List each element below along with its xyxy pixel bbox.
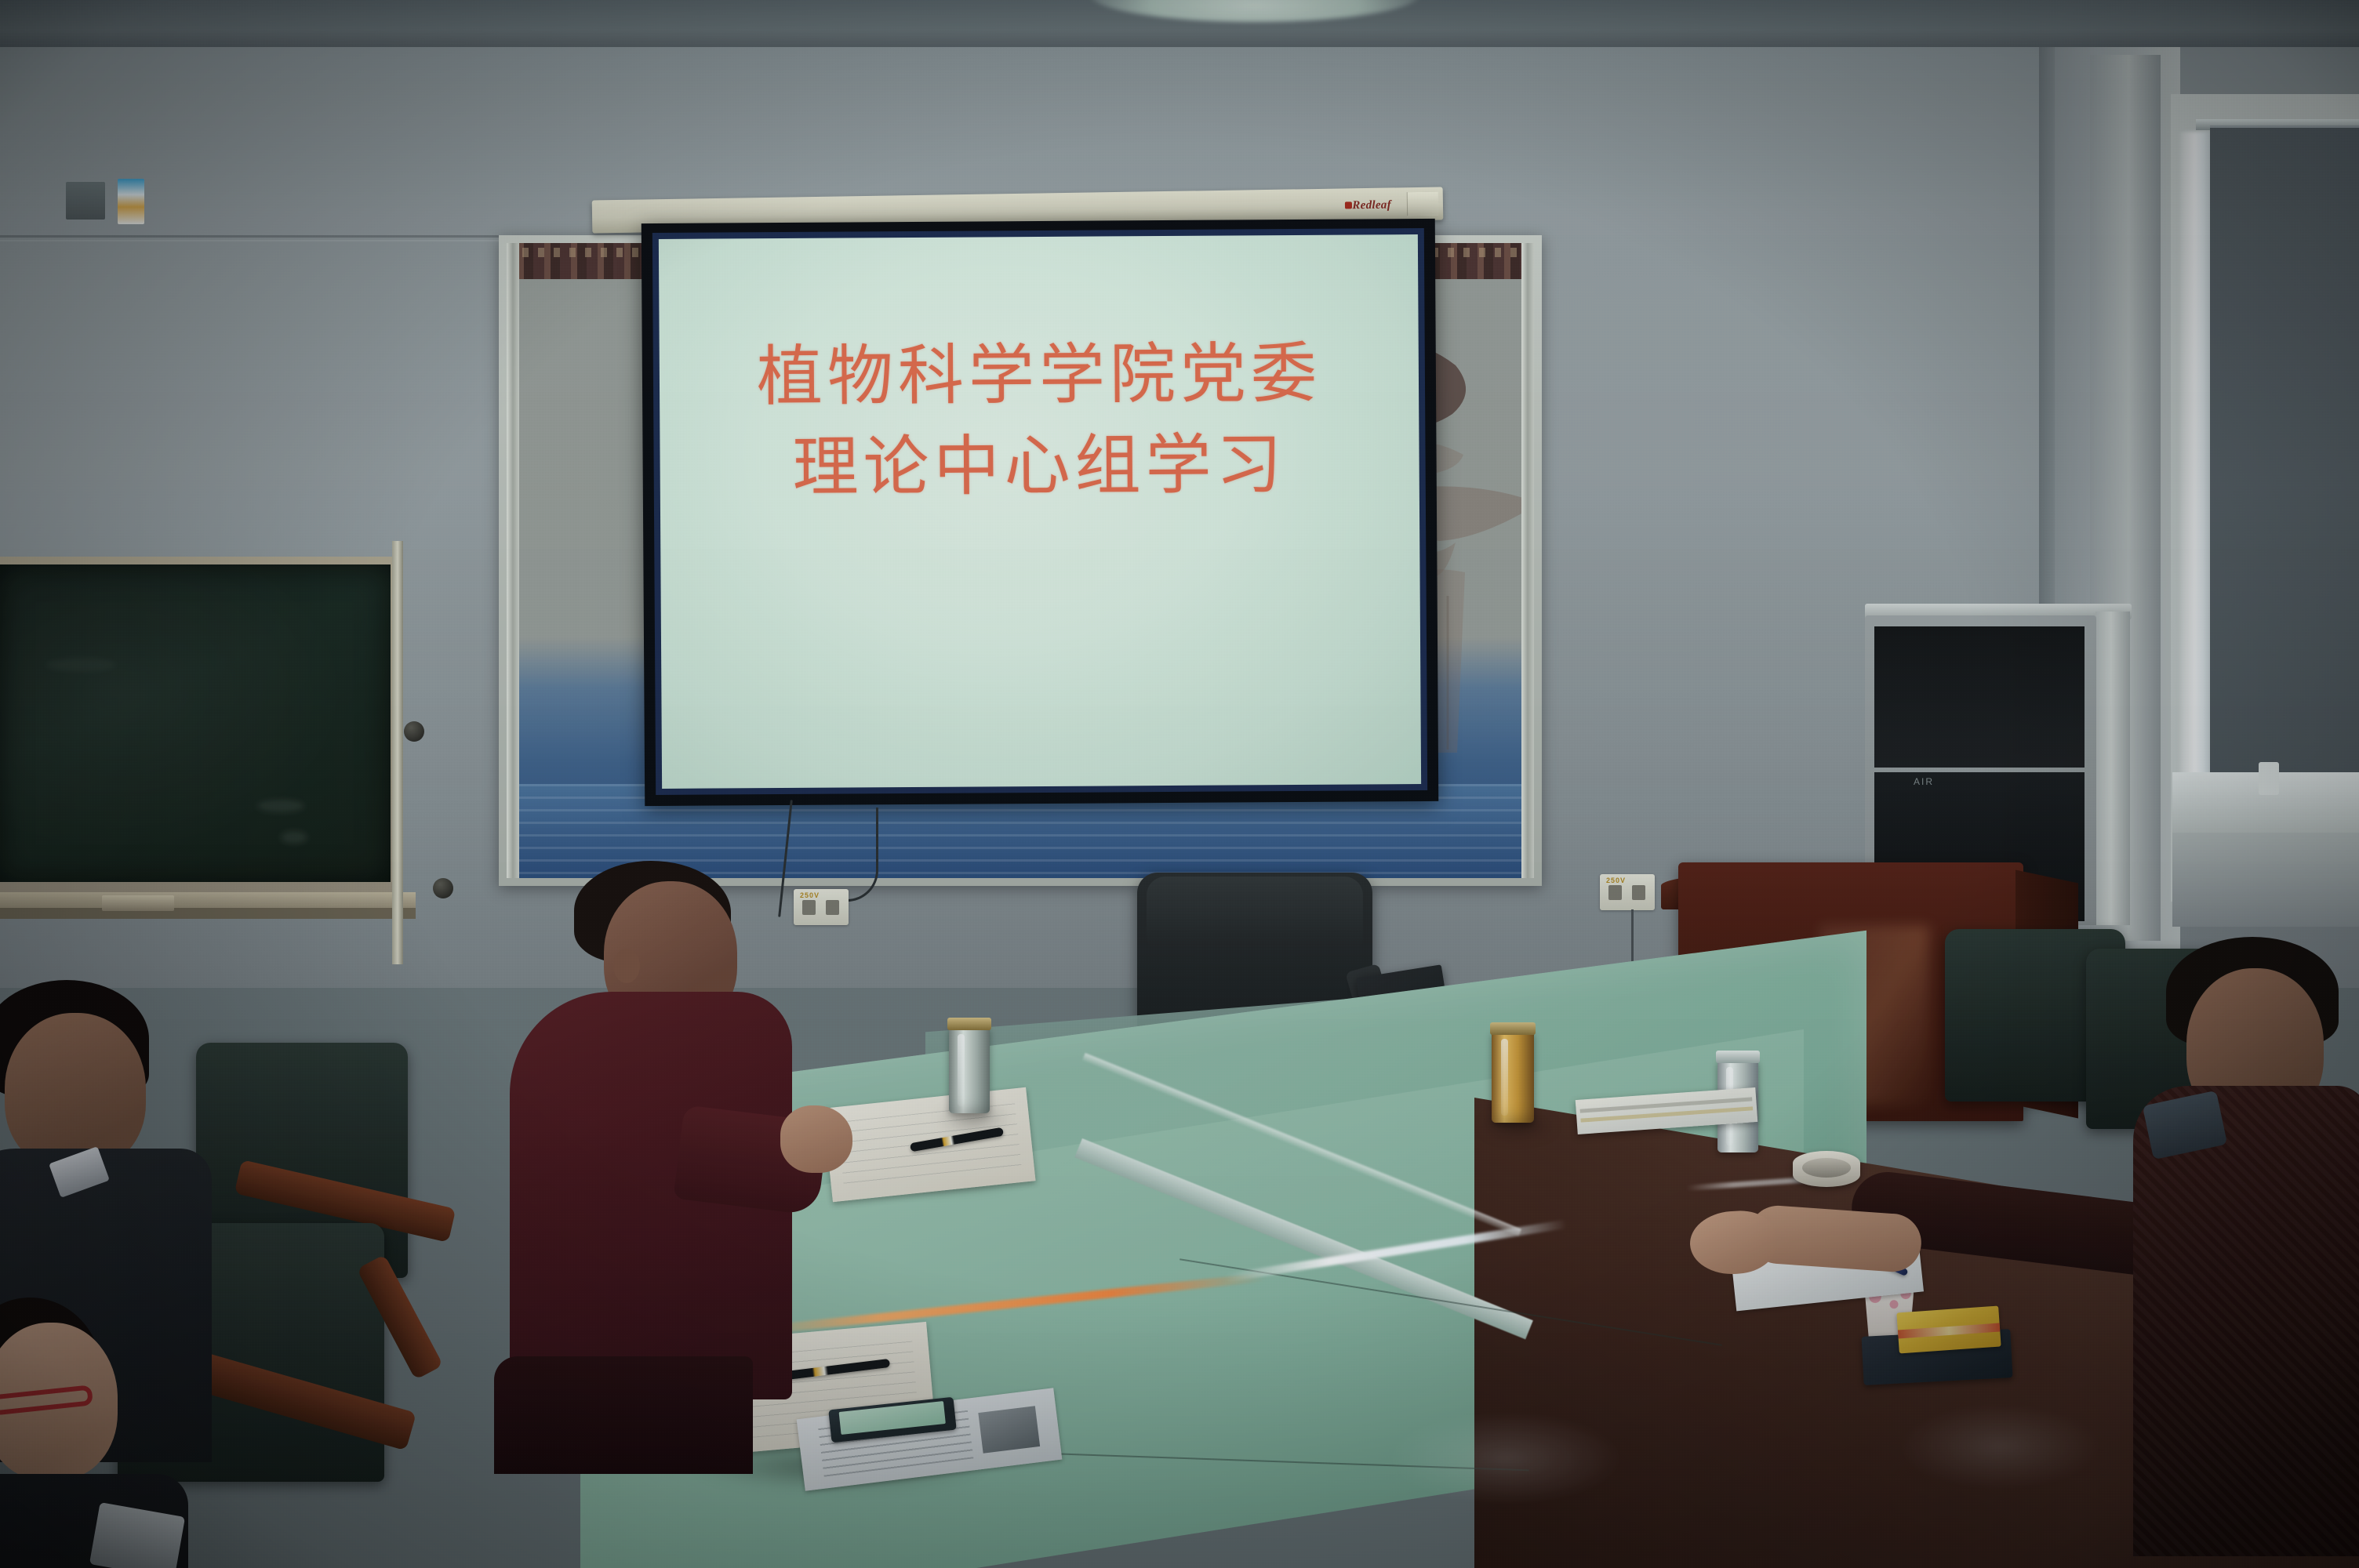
speaker-hands — [780, 1105, 852, 1173]
speaker-ear — [613, 949, 640, 983]
housing-end-cap — [1407, 192, 1438, 216]
ashtray[interactable] — [1793, 1151, 1860, 1187]
person-man-in-dark-plaid-jacket — [2117, 937, 2359, 1564]
projection-screen: 植物科学学院党委 理论中心组学习 — [642, 219, 1439, 806]
slide-title-line-2: 理论中心组学习 — [660, 419, 1419, 515]
table-reflection-glow-right — [1898, 1403, 2102, 1490]
board-knob-upper[interactable] — [404, 721, 424, 742]
ac-side-panel — [2095, 612, 2130, 925]
blackboard — [0, 557, 408, 925]
window-latch[interactable] — [2259, 762, 2279, 795]
speaker-lap — [494, 1356, 753, 1474]
chalk-tray-front — [0, 908, 416, 919]
ac-upper-vent — [1874, 626, 2085, 768]
window-roller-blind[interactable] — [2210, 125, 2359, 776]
executive-chair-headrest — [1147, 877, 1363, 949]
screen-surface: 植物科学学院党委 理论中心组学习 — [659, 234, 1421, 789]
slide-title-line-1: 植物科学学院党委 — [660, 328, 1419, 424]
mural-right-bead — [1521, 243, 1534, 878]
ac-brand-label: AIR — [1914, 776, 1934, 787]
ac-energy-label-sticker — [118, 179, 144, 224]
person-woman-with-red-glasses — [0, 1298, 227, 1568]
window-lower-wall — [2172, 833, 2359, 927]
bl-man-head — [5, 1013, 146, 1170]
thermos-shadow-center — [1481, 1115, 1555, 1137]
ac-control-panel[interactable] — [66, 182, 105, 220]
screen-brand-label: Redleaf — [1352, 199, 1391, 213]
person-speaker-in-maroon-shirt — [510, 855, 839, 1403]
glass-thermos-left[interactable] — [949, 1027, 990, 1113]
mural-left-bead — [507, 243, 519, 878]
table-reflection-glow — [1388, 1411, 1623, 1505]
cigarette-pack[interactable] — [1896, 1306, 2001, 1354]
board-slide-rail — [392, 541, 403, 964]
thermos-shadow-left — [938, 1107, 1009, 1129]
outlet-voltage-label-right: 250V — [1606, 877, 1626, 884]
photo-scene: Redleaf 植物科学学院党委 理论中心组学习 250V 250V AIR — [0, 0, 2359, 1568]
slide-text-block: 植物科学学院党委 理论中心组学习 — [660, 328, 1419, 515]
glass-thermos-center[interactable] — [1492, 1032, 1534, 1123]
blackboard-eraser[interactable] — [102, 895, 174, 911]
brand-mark-dot — [1345, 201, 1352, 209]
board-knob-lower[interactable] — [433, 878, 453, 898]
wall-outlet-right[interactable]: 250V — [1600, 874, 1655, 910]
blackboard-surface — [0, 564, 391, 882]
